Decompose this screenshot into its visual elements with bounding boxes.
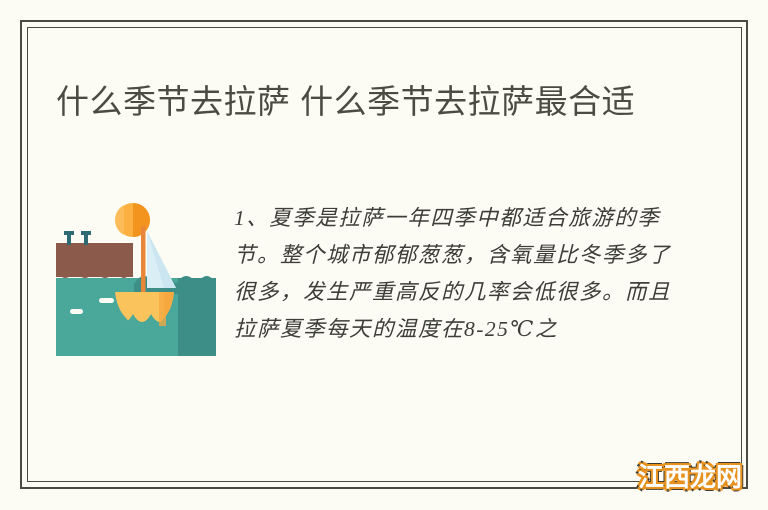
article-thumbnail [56, 196, 216, 356]
article-content: 1、夏季是拉萨一年四季中都适合旅游的季节。整个城市郁郁葱葱，含氧量比冬季多了很多… [56, 196, 676, 356]
seaside-illustration-icon [56, 196, 216, 356]
article-page: 什么季节去拉萨 什么季节去拉萨最合适 [0, 0, 768, 510]
article-body: 1、夏季是拉萨一年四季中都适合旅游的季节。整个城市郁郁葱葱，含氧量比冬季多了很多… [234, 200, 676, 348]
page-title: 什么季节去拉萨 什么季节去拉萨最合适 [56, 78, 666, 126]
site-watermark: 江西龙网 [638, 457, 742, 494]
